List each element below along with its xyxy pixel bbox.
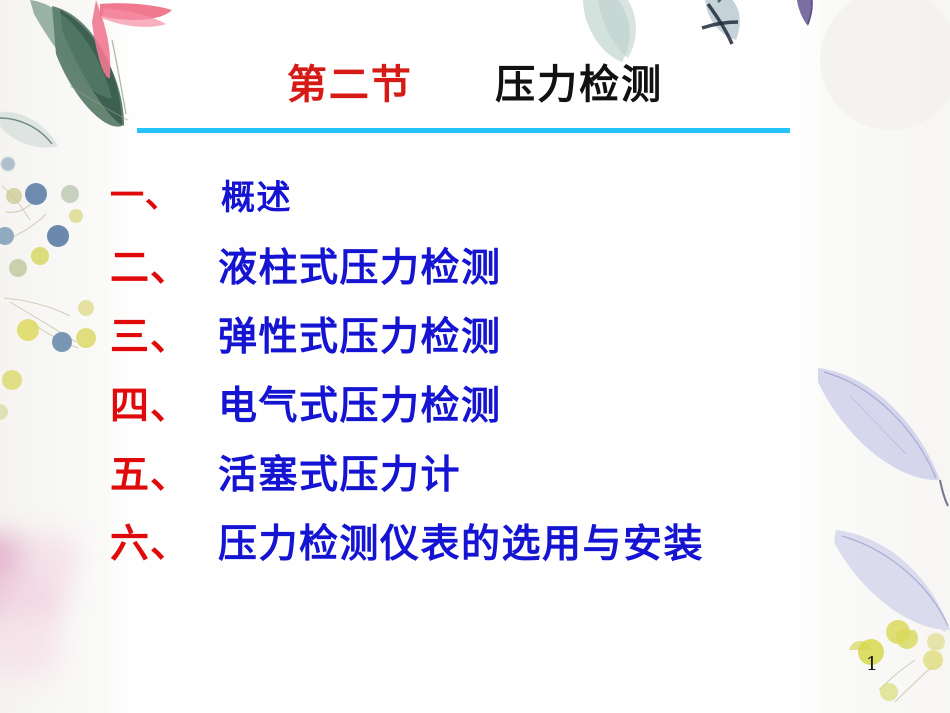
toc-item-4-number: 四、 [110,375,190,431]
toc-item-3-label: 弹性式压力检测 [218,306,502,362]
toc-item-5[interactable]: 五、 活塞式压力计 [0,444,950,513]
table-of-contents: 一、 概述 二、 液柱式压力检测 三、 弹性式压力检测 四、 电气式压力检测 五… [0,168,950,582]
toc-item-1-number: 一、 [110,168,180,217]
toc-item-1-label: 概述 [221,170,292,219]
title-main-text: 压力检测 [495,61,663,108]
slide-title: 第二节 压力检测 [0,52,950,110]
title-section-label: 第二节 [287,61,413,108]
slide-canvas: 第二节 压力检测 一、 概述 二、 液柱式压力检测 三、 弹性式压力检测 四、 … [0,0,950,713]
title-divider-line [137,128,790,133]
page-number: 1 [866,653,878,675]
toc-item-6[interactable]: 六、 压力检测仪表的选用与安装 [0,513,950,582]
toc-item-4[interactable]: 四、 电气式压力检测 [0,375,950,444]
toc-item-6-label: 压力检测仪表的选用与安装 [218,513,704,569]
toc-item-4-label: 电气式压力检测 [218,375,502,431]
toc-item-2[interactable]: 二、 液柱式压力检测 [0,237,950,306]
toc-item-2-label: 液柱式压力检测 [218,237,502,293]
toc-item-5-label: 活塞式压力计 [218,444,461,500]
toc-item-6-number: 六、 [110,513,190,569]
toc-item-3-number: 三、 [110,306,190,362]
toc-item-3[interactable]: 三、 弹性式压力检测 [0,306,950,375]
toc-item-2-number: 二、 [110,237,190,293]
toc-item-1[interactable]: 一、 概述 [0,168,950,237]
toc-item-5-number: 五、 [110,444,190,500]
